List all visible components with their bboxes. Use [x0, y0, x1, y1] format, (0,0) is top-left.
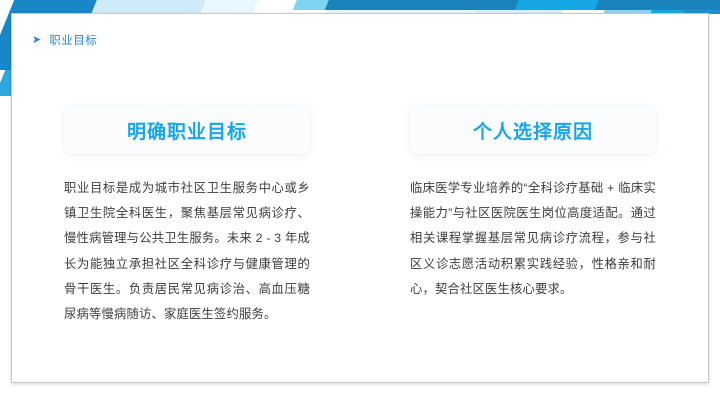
- card-body-personal-reason: 临床医学专业培养的“全科诊疗基础 + 临床实操能力”与社区医院医生岗位高度适配。…: [410, 176, 656, 302]
- top-band-1: [91, 0, 221, 14]
- slide: ➤ 职业目标 明确职业目标 职业目标是成为城市社区卫生服务中心或乡镇卫生院全科医…: [0, 0, 720, 405]
- top-band-6: [650, 0, 700, 14]
- card-header-career-goal: 明确职业目标: [64, 106, 310, 154]
- top-band-4: [473, 0, 571, 14]
- top-band-7: [683, 0, 720, 14]
- content-columns: 明确职业目标 职业目标是成为城市社区卫生服务中心或乡镇卫生院全科医生，聚焦基层常…: [12, 106, 708, 340]
- bottom-band-1: [285, 0, 356, 10]
- top-band-2: [200, 0, 262, 14]
- bottom-band-2: [293, 0, 350, 10]
- arrow-right-triangle-icon: ➤: [32, 35, 41, 46]
- column-personal-reason: 个人选择原因 临床医学专业培养的“全科诊疗基础 + 临床实操能力”与社区医院医生…: [410, 106, 656, 340]
- card-header-personal-reason: 个人选择原因: [410, 106, 656, 154]
- content-frame: ➤ 职业目标 明确职业目标 职业目标是成为城市社区卫生服务中心或乡镇卫生院全科医…: [11, 13, 709, 383]
- bottom-band-4: [515, 0, 616, 10]
- page-header: ➤ 职业目标: [32, 32, 97, 48]
- top-band-5: [603, 0, 665, 14]
- card-header-label: 明确职业目标: [127, 117, 247, 144]
- top-band-3: [325, 0, 545, 14]
- bottom-band-5: [595, 0, 720, 10]
- page-title: 职业目标: [49, 32, 97, 48]
- bottom-band-3: [325, 0, 546, 10]
- card-body-career-goal: 职业目标是成为城市社区卫生服务中心或乡镇卫生院全科医生，聚焦基层常见病诊疗、慢性…: [64, 176, 310, 327]
- card-header-label: 个人选择原因: [473, 117, 593, 144]
- column-career-goal: 明确职业目标 职业目标是成为城市社区卫生服务中心或乡镇卫生院全科医生，聚焦基层常…: [64, 106, 310, 340]
